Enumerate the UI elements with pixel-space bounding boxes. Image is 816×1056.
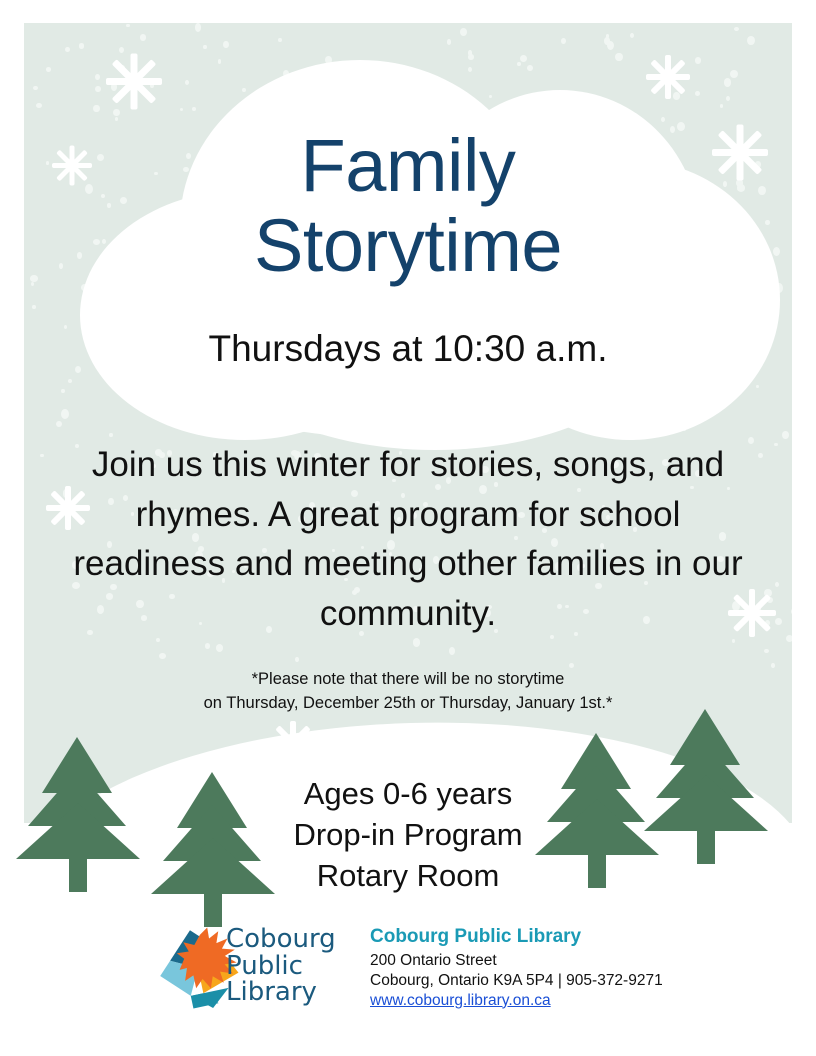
cobourg-public-library-logo: Cobourg Public Library (148, 918, 328, 1018)
library-address-line-2: Cobourg, Ontario K9A 5P4 | 905-372-9271 (370, 971, 710, 991)
page-title: Family Storytime (0, 126, 816, 286)
library-website-link[interactable]: www.cobourg.library.on.ca (370, 991, 551, 1011)
logo-wordmark: Cobourg Public Library (226, 926, 336, 1006)
event-time: Thursdays at 10:30 a.m. (0, 328, 816, 370)
library-name: Cobourg Public Library (370, 926, 710, 948)
logo-word-line-1: Cobourg (226, 926, 336, 953)
poster-text-layer: Family Storytime Thursdays at 10:30 a.m.… (0, 0, 816, 1056)
library-address-line-1: 200 Ontario Street (370, 951, 710, 971)
title-line-2: Storytime (0, 206, 816, 286)
logo-word-line-2: Public (226, 953, 336, 980)
schedule-exception-note: *Please note that there will be no story… (0, 668, 816, 716)
detail-registration: Drop-in Program (0, 814, 816, 855)
poster-canvas: Family Storytime Thursdays at 10:30 a.m.… (0, 0, 816, 1056)
library-contact-info: Cobourg Public Library 200 Ontario Stree… (370, 926, 710, 1010)
footer: Cobourg Public Library Cobourg Public Li… (148, 918, 708, 1028)
logo-word-line-3: Library (226, 979, 336, 1006)
detail-age-range: Ages 0-6 years (0, 773, 816, 814)
program-description: Join us this winter for stories, songs, … (68, 440, 748, 639)
title-line-1: Family (0, 126, 816, 206)
note-line-1: *Please note that there will be no story… (0, 668, 816, 692)
detail-location: Rotary Room (0, 855, 816, 896)
program-details: Ages 0-6 years Drop-in Program Rotary Ro… (0, 773, 816, 897)
note-line-2: on Thursday, December 25th or Thursday, … (0, 692, 816, 716)
